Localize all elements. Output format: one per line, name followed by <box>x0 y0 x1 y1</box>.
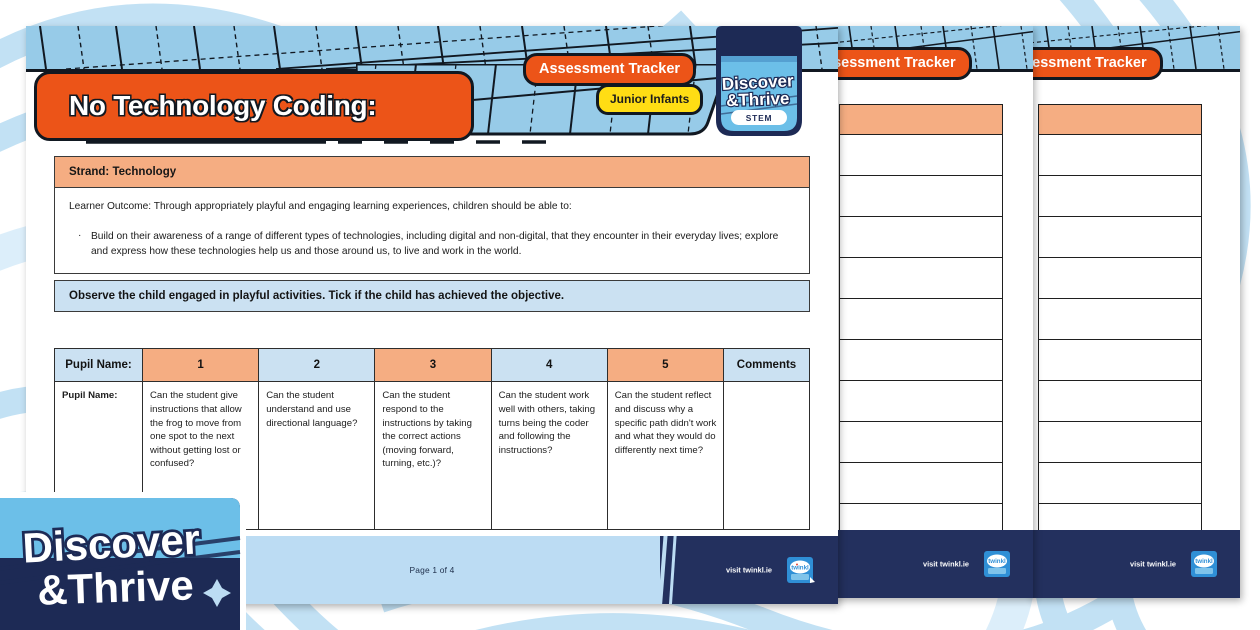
column-header-2: 2 <box>259 349 375 382</box>
table-row <box>840 340 1003 381</box>
logo-line2: &Thrive <box>726 89 790 110</box>
criterion-cell-3[interactable]: Can the student respond to the instructi… <box>375 382 491 530</box>
table-row <box>1039 463 1202 504</box>
criterion-cell-5[interactable]: Can the student reflect and discuss why … <box>607 382 723 530</box>
table-row <box>840 105 1003 135</box>
page3-cell[interactable] <box>1039 463 1202 504</box>
screenshot-stage: e Assessment Tracker visit twinkl.ie <box>0 0 1260 630</box>
page3-assessment-badge-label: e Assessment Tracker <box>1030 55 1147 71</box>
page-title-banner: No Technology Coding: <box>34 71 474 141</box>
table-row <box>840 176 1003 217</box>
column-header-3: 3 <box>375 349 491 382</box>
page2-assessment-badge-label: e Assessment Tracker <box>833 55 956 71</box>
page2-cell[interactable] <box>840 135 1003 176</box>
table-row <box>1039 340 1202 381</box>
table-row <box>1039 422 1202 463</box>
strand-label: Strand: Technology <box>55 157 809 188</box>
page2-header-cell <box>840 105 1003 135</box>
page1-body: Strand: Technology Learner Outcome: Thro… <box>26 144 838 530</box>
table-row <box>840 135 1003 176</box>
twinkl-logo-icon: twinkl <box>786 555 816 585</box>
discover-thrive-stem-logo: Discover &Thrive STEM <box>706 26 812 141</box>
page3-visit-label[interactable]: visit twinkl.ie <box>1130 560 1176 569</box>
footer-brand-panel: visit twinkl.ie twinkl <box>660 536 838 604</box>
table-row <box>1039 381 1202 422</box>
page3-cell[interactable] <box>1039 217 1202 258</box>
learner-outcome-block: Learner Outcome: Through appropriately p… <box>55 188 809 273</box>
instruction-box: Observe the child engaged in playful act… <box>54 280 810 312</box>
page3-assessment-badge[interactable]: e Assessment Tracker <box>1030 47 1163 80</box>
table-row <box>1039 299 1202 340</box>
page3-cell[interactable] <box>1039 340 1202 381</box>
tracker-header-row: Pupil Name: 1 2 3 4 5 Comments <box>55 349 810 382</box>
table-row <box>1039 105 1202 135</box>
page2-cell[interactable] <box>840 463 1003 504</box>
page3-tracker-table <box>1038 104 1202 545</box>
table-row <box>1039 176 1202 217</box>
learner-outcome-bullet: · Build on their awareness of a range of… <box>69 229 795 260</box>
bullet-icon: · <box>78 229 91 260</box>
table-row <box>840 258 1003 299</box>
column-header-comments: Comments <box>724 349 810 382</box>
table-row <box>840 299 1003 340</box>
page2-cell[interactable] <box>840 340 1003 381</box>
learner-outcome-intro: Learner Outcome: Through appropriately p… <box>69 200 795 215</box>
page2-table-body <box>840 105 1003 545</box>
table-row <box>1039 258 1202 299</box>
table-row <box>1039 217 1202 258</box>
learner-outcome-bullet-text: Build on their awareness of a range of d… <box>91 229 795 260</box>
svg-text:twinkl: twinkl <box>1195 558 1213 565</box>
page3-cell[interactable] <box>1039 135 1202 176</box>
table-row <box>840 381 1003 422</box>
page3-cell[interactable] <box>1039 381 1202 422</box>
page2-cell[interactable] <box>840 299 1003 340</box>
table-row <box>1039 135 1202 176</box>
table-row <box>840 422 1003 463</box>
column-header-4: 4 <box>491 349 607 382</box>
page2-cell[interactable] <box>840 217 1003 258</box>
page2-footer: visit twinkl.ie twinkl <box>833 530 1033 598</box>
page-title: No Technology Coding: <box>69 90 376 122</box>
year-group-label: Junior Infants <box>610 92 689 106</box>
comments-cell[interactable] <box>724 382 810 530</box>
table-row <box>840 463 1003 504</box>
page3-cell[interactable] <box>1039 176 1202 217</box>
page2-visit-label[interactable]: visit twinkl.ie <box>923 560 969 569</box>
footer-streak-decoration <box>660 536 692 604</box>
year-group-badge[interactable]: Junior Infants <box>596 84 703 115</box>
column-header-5: 5 <box>607 349 723 382</box>
criterion-cell-2[interactable]: Can the student understand and use direc… <box>259 382 375 530</box>
page-sheet-3: e Assessment Tracker visit twinkl.ie <box>1030 26 1240 598</box>
page2-cell[interactable] <box>840 258 1003 299</box>
column-header-1: 1 <box>143 349 259 382</box>
visit-twinkl-label[interactable]: visit twinkl.ie <box>726 566 772 575</box>
page2-cell[interactable] <box>840 381 1003 422</box>
criterion-cell-4[interactable]: Can the student work well with others, t… <box>491 382 607 530</box>
page2-assessment-badge[interactable]: e Assessment Tracker <box>833 47 972 80</box>
assessment-tracker-badge[interactable]: Assessment Tracker <box>523 53 696 86</box>
page-sheet-2: e Assessment Tracker visit twinkl.ie <box>833 26 1033 598</box>
page3-cell[interactable] <box>1039 299 1202 340</box>
page2-cell[interactable] <box>840 176 1003 217</box>
column-header-pupil-name: Pupil Name: <box>55 349 143 382</box>
page3-table-body <box>1039 105 1202 545</box>
page3-cell[interactable] <box>1039 422 1202 463</box>
page3-cell[interactable] <box>1039 258 1202 299</box>
twinkl-logo-icon: twinkl <box>1190 549 1220 579</box>
page2-cell[interactable] <box>840 422 1003 463</box>
tracker-table-head: Pupil Name: 1 2 3 4 5 Comments <box>55 349 810 382</box>
logo-stem-tag: STEM <box>746 113 772 123</box>
assessment-tracker-label: Assessment Tracker <box>539 61 680 77</box>
page3-header-cell <box>1039 105 1202 135</box>
page3-footer: visit twinkl.ie twinkl <box>1030 530 1240 598</box>
svg-text:twinkl: twinkl <box>988 558 1006 565</box>
svg-text:twinkl: twinkl <box>791 565 809 572</box>
twinkl-logo-icon: twinkl <box>983 549 1013 579</box>
strand-info-box: Strand: Technology Learner Outcome: Thro… <box>54 156 810 274</box>
badge-line2: &Thrive <box>37 561 195 613</box>
table-row <box>840 217 1003 258</box>
discover-thrive-badge: Discover &Thrive <box>0 492 254 630</box>
page2-tracker-table <box>839 104 1003 545</box>
